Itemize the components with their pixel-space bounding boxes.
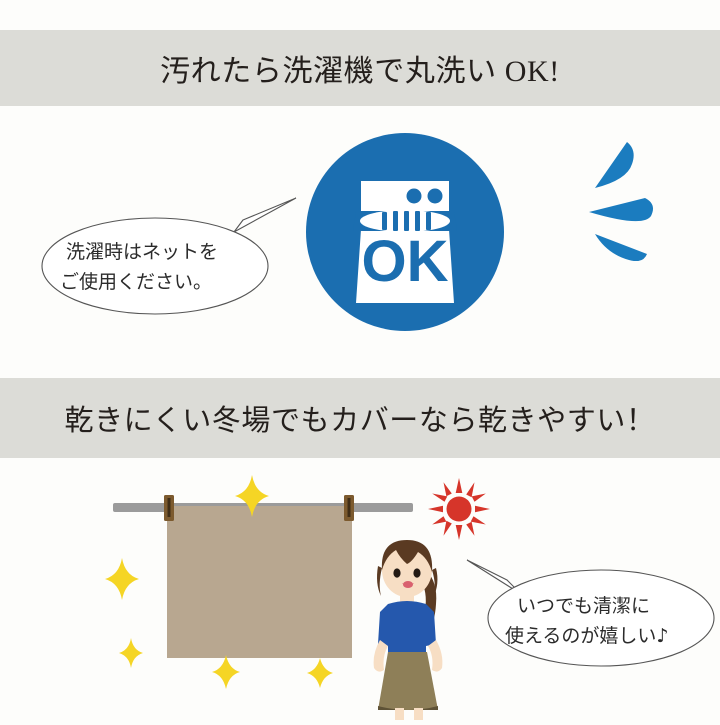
woman-illustration — [352, 528, 472, 720]
clothespin-left — [164, 495, 174, 521]
hanging-cloth — [167, 506, 352, 658]
bubble-clean-line1: いつでも清潔に — [517, 595, 650, 617]
skirt — [378, 652, 438, 710]
washer-ok-label: OK — [362, 229, 449, 294]
clothespin-right — [344, 495, 354, 521]
speech-bubble-laundry-net: 洗濯時はネットを ご使用ください。 — [38, 196, 298, 321]
section-drying: いつでも清潔に 使えるのが嬉しい♪ — [0, 458, 720, 720]
bubble-net-line2: ご使用ください。 — [60, 271, 212, 293]
heading-drying-text: 乾きにくい冬場でもカバーなら乾きやすい！ — [64, 397, 655, 439]
water-splash-icon — [585, 136, 675, 261]
arm-right — [428, 640, 442, 672]
section-washing: OK 洗濯時はネットを ご使用ください。 — [0, 106, 720, 378]
washing-machine-ok-icon: OK — [304, 131, 506, 333]
heading-washing-text: 汚れたら洗濯機で丸洗い OK! — [160, 46, 560, 90]
speech-bubble-always-clean: いつでも清潔に 使えるのが嬉しい♪ — [465, 554, 717, 676]
heading-band-drying: 乾きにくい冬場でもカバーなら乾きやすい！ — [0, 378, 720, 458]
bubble-tail — [234, 198, 296, 232]
promo-page: 汚れたら洗濯機で丸洗い OK! — [0, 0, 720, 720]
bubble-clean-line2: 使えるのが嬉しい♪ — [505, 625, 669, 647]
bubble-net-line1: 洗濯時はネットを — [66, 241, 218, 263]
heading-band-washing: 汚れたら洗濯機で丸洗い OK! — [0, 30, 720, 106]
